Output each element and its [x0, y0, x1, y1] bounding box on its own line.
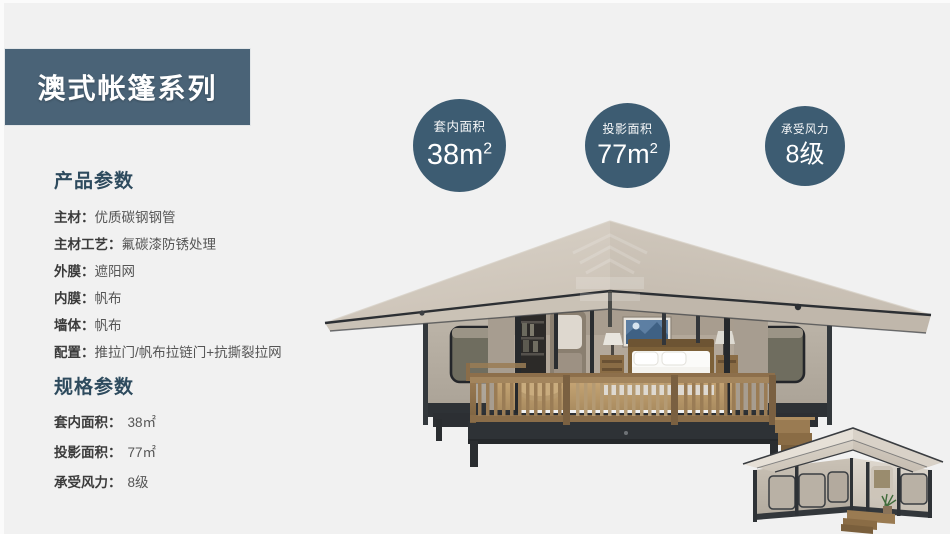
size-parameters-section: 规格参数 套内面积：38㎡ 投影面积：77㎡ 承受风力：8级: [54, 372, 156, 498]
param-row: 墙体：帆布: [54, 312, 282, 339]
param-key: 套内面积：: [54, 415, 122, 430]
stat-badge-number: 8级: [786, 140, 825, 168]
slide-canvas: 澳式帐篷系列 产品参数 主材：优质碳钢钢管 主材工艺：氟碳漆防锈处理 外膜：遮阳…: [0, 0, 950, 534]
param-key: 墙体：: [54, 318, 95, 333]
param-value: 帆布: [95, 318, 122, 333]
stat-badge-value: 77m2: [597, 141, 658, 168]
param-row: 投影面积：77㎡: [54, 438, 156, 468]
param-value: 帆布: [95, 291, 122, 306]
param-row: 套内面积：38㎡: [54, 408, 156, 438]
param-value: 38㎡: [122, 415, 157, 430]
param-key: 主材：: [54, 210, 95, 225]
param-row: 内膜：帆布: [54, 285, 282, 312]
slide-left-edge: [0, 0, 4, 534]
param-row: 主材工艺：氟碳漆防锈处理: [54, 231, 282, 258]
param-value: 8级: [122, 475, 149, 490]
slide-top-edge: [0, 0, 950, 3]
stat-badge-projected-area: 投影面积 77m2: [585, 103, 670, 188]
param-row: 承受风力：8级: [54, 468, 156, 498]
param-row: 主材：优质碳钢钢管: [54, 204, 282, 231]
param-key: 投影面积：: [54, 445, 122, 460]
param-value: 优质碳钢钢管: [95, 210, 176, 225]
param-value: 氟碳漆防锈处理: [122, 237, 217, 252]
series-title-text: 澳式帐篷系列: [37, 67, 217, 107]
stat-badge-wind-resistance: 承受风力 8级: [765, 106, 845, 186]
stat-badge-indoor-area: 套内面积 38m2: [413, 99, 506, 192]
size-parameters-heading: 规格参数: [54, 372, 156, 399]
param-key: 内膜：: [54, 291, 95, 306]
param-key: 主材工艺：: [54, 237, 122, 252]
stat-badge-label: 套内面积: [433, 121, 485, 134]
secondary-tent-image: [735, 418, 950, 534]
param-key: 承受风力：: [54, 475, 122, 490]
stat-badge-number: 77m: [597, 139, 650, 169]
stat-badge-superscript: 2: [483, 140, 492, 157]
stat-badge-label: 承受风力: [781, 125, 829, 137]
param-value: 遮阳网: [95, 264, 136, 279]
stat-badge-label: 投影面积: [602, 123, 652, 135]
product-parameters-heading: 产品参数: [54, 166, 282, 193]
product-parameters-section: 产品参数 主材：优质碳钢钢管 主材工艺：氟碳漆防锈处理 外膜：遮阳网 内膜：帆布…: [54, 166, 282, 366]
param-key: 外膜：: [54, 264, 95, 279]
stat-badge-value: 8级: [786, 142, 825, 167]
param-value: 推拉门/帆布拉链门+抗撕裂拉网: [95, 345, 282, 360]
param-row: 配置：推拉门/帆布拉链门+抗撕裂拉网: [54, 339, 282, 366]
stat-badge-superscript: 2: [650, 141, 658, 157]
stat-badge-number: 38m: [427, 139, 483, 171]
series-title-banner: 澳式帐篷系列: [4, 48, 251, 126]
param-row: 外膜：遮阳网: [54, 258, 282, 285]
param-key: 配置：: [54, 345, 95, 360]
stat-badge-value: 38m2: [427, 141, 492, 170]
param-value: 77㎡: [122, 445, 157, 460]
